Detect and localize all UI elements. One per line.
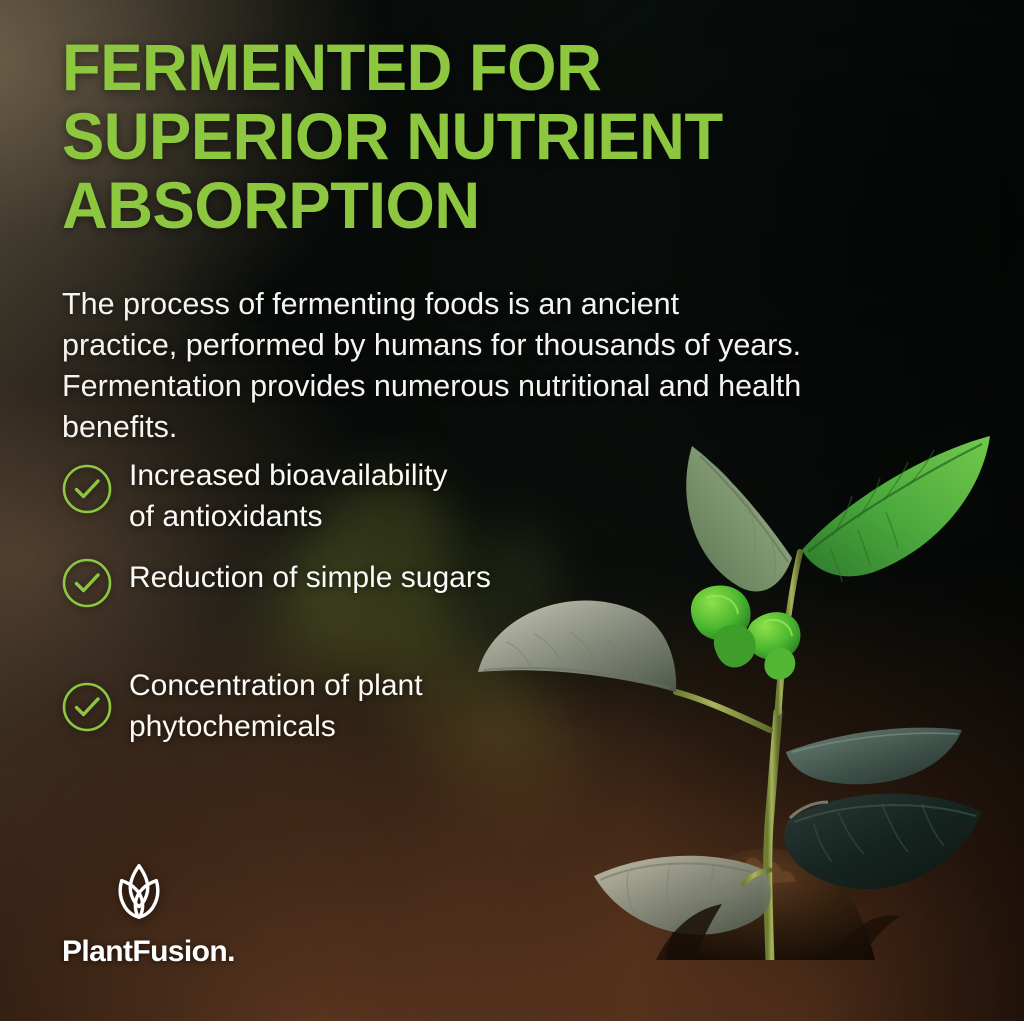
list-item-line-1: Concentration of plant: [129, 665, 423, 706]
brand-wordmark: PlantFusion.: [62, 935, 235, 969]
list-item-line-1: Increased bioavailability: [129, 455, 448, 496]
headline-line-1: FERMENTED FOR: [62, 33, 830, 102]
headline: FERMENTED FOR SUPERIOR NUTRIENT ABSORPTI…: [62, 33, 830, 240]
list-item-line-2: phytochemicals: [129, 706, 423, 747]
lotus-leaf-icon: [108, 862, 170, 924]
list-item-label: Increased bioavailability of antioxidant…: [129, 452, 448, 537]
list-item-label: Reduction of simple sugars: [129, 554, 491, 598]
check-circle-icon: [62, 682, 112, 732]
headline-line-2: SUPERIOR NUTRIENT: [62, 102, 830, 171]
check-circle-icon: [62, 558, 112, 608]
benefits-list: Increased bioavailability of antioxidant…: [62, 452, 622, 762]
check-circle-icon: [62, 464, 112, 514]
list-item-label: Concentration of plant phytochemicals: [129, 662, 423, 747]
headline-line-3: ABSORPTION: [62, 171, 830, 240]
list-item: Reduction of simple sugars: [62, 554, 622, 662]
list-item: Concentration of plant phytochemicals: [62, 662, 622, 762]
list-item: Increased bioavailability of antioxidant…: [62, 452, 622, 554]
brand-name: PlantFusion: [62, 935, 227, 968]
infographic-poster: FERMENTED FOR SUPERIOR NUTRIENT ABSORPTI…: [0, 0, 1024, 1021]
brand-period: .: [227, 935, 235, 968]
intro-paragraph: The process of fermenting foods is an an…: [62, 284, 802, 448]
brand-logo: PlantFusion.: [62, 862, 235, 969]
list-item-line-2: of antioxidants: [129, 496, 448, 537]
list-item-line-1: Reduction of simple sugars: [129, 557, 491, 598]
